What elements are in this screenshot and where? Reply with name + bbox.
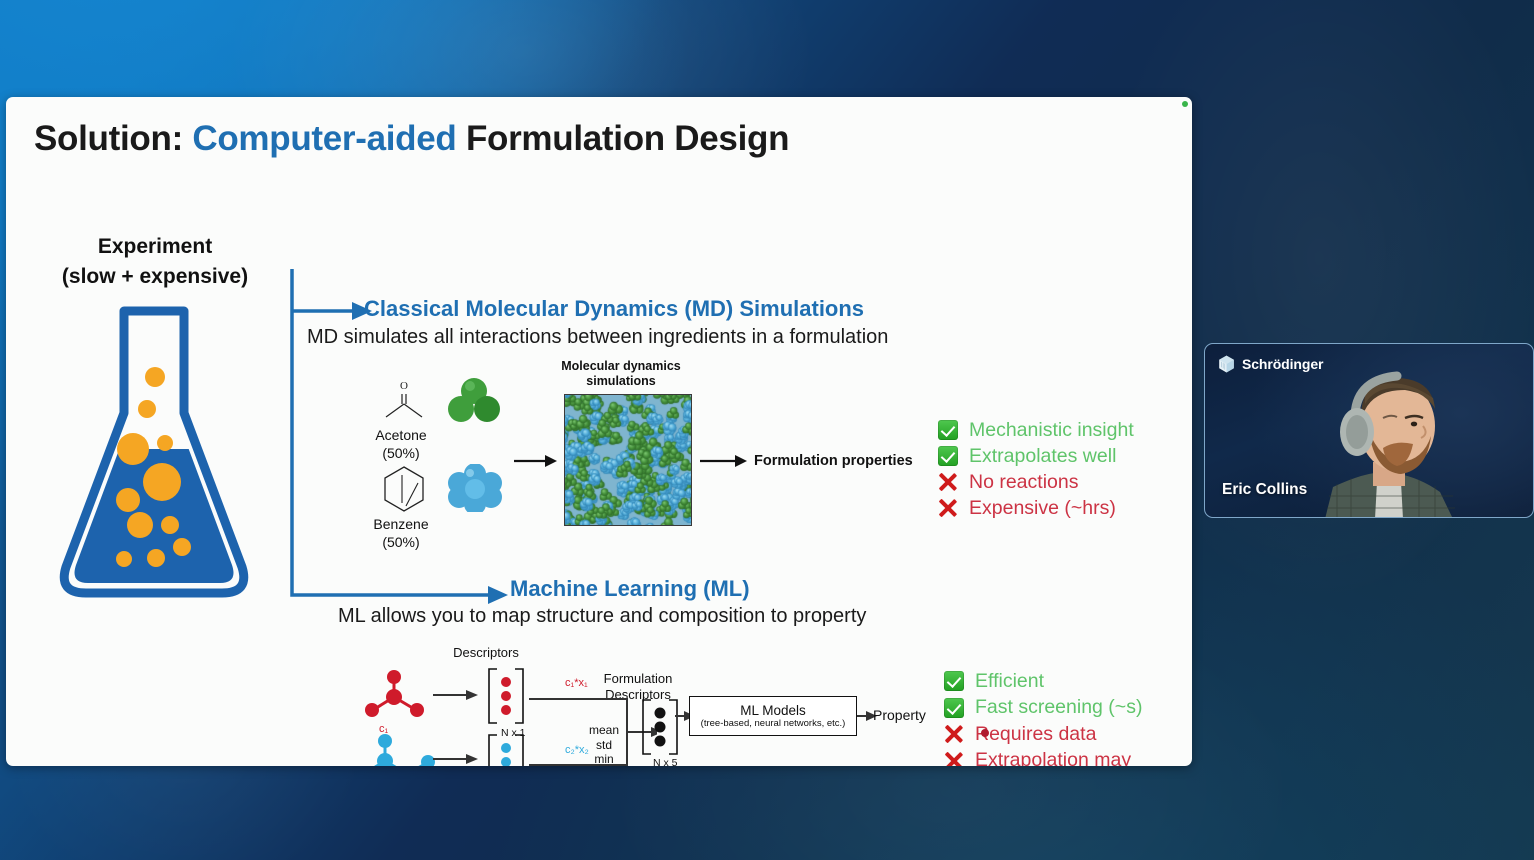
experiment-label: Experiment (slow + expensive) (30, 232, 280, 292)
cross-icon (944, 724, 964, 744)
participant-name-label: Eric Collins (1222, 481, 1307, 499)
cross-icon (938, 472, 958, 492)
formulation-descriptor-vector (639, 698, 681, 756)
md-sim-caption: Molecular dynamics simulations (541, 359, 701, 390)
page-title: Solution: Computer-aided Formulation Des… (34, 119, 789, 159)
check-icon (938, 446, 958, 466)
ml-item-label: Fast screening (~s) (975, 696, 1142, 719)
experiment-subheading: (slow + expensive) (30, 262, 280, 292)
descriptors-label: Descriptors (436, 645, 536, 661)
ml-item-label: Extrapolation may (975, 749, 1131, 766)
molecule-c2-icon (355, 733, 445, 766)
md-item-label: Mechanistic insight (969, 419, 1134, 442)
check-icon (944, 671, 964, 691)
md-list-item: Expensive (~hrs) (938, 495, 1134, 521)
benzene-spacefill-icon (448, 464, 502, 512)
md-section-heading: Classical Molecular Dynamics (MD) Simula… (364, 296, 864, 322)
md-sim-caption-line1: Molecular dynamics (541, 359, 701, 374)
acetone-structure-icon: O (378, 377, 430, 427)
descriptor-vector-c2 (485, 733, 527, 766)
green-status-dot (1182, 101, 1188, 107)
red-pointer-dot (981, 729, 989, 737)
molecule-c1-icon (359, 669, 429, 721)
acetone-name-text: Acetone (356, 427, 446, 445)
md-section-subheading: MD simulates all interactions between in… (307, 326, 888, 349)
benzene-label: Benzene (50%) (356, 516, 446, 551)
md-list-item: Mechanistic insight (938, 417, 1134, 443)
benzene-pct: (50%) (356, 534, 446, 552)
check-icon (938, 420, 958, 440)
video-brand-logo: Schrödinger (1218, 355, 1323, 373)
aggregation-stats-list: mean std min max median (573, 723, 635, 766)
ml-figure: Descriptors Formulation Descriptors (351, 645, 941, 766)
ml-item-label: Efficient (975, 670, 1044, 693)
md-simulation-box (564, 394, 692, 526)
erlenmeyer-flask-icon (54, 297, 254, 607)
vector-dim-3-label: N x 5 (653, 757, 678, 766)
acetone-spacefill-icon (448, 377, 502, 423)
ml-item-label: Requires data (975, 723, 1096, 746)
ml-models-title: ML Models (740, 703, 806, 718)
md-list-item: No reactions (938, 469, 1134, 495)
arrow-to-simulation-icon (514, 454, 558, 468)
ml-pros-cons-list: Efficient Fast screening (~s) Requires d… (944, 668, 1142, 766)
svg-text:O: O (400, 380, 408, 392)
arrow-to-properties-icon (700, 454, 748, 468)
formulation-properties-label: Formulation properties (754, 453, 913, 469)
benzene-name-text: Benzene (356, 516, 446, 534)
ml-list-item: Fast screening (~s) (944, 695, 1142, 722)
schrodinger-cube-icon (1218, 355, 1235, 373)
md-sim-caption-line2: simulations (541, 374, 701, 389)
experiment-heading: Experiment (30, 232, 280, 262)
arrow-c2-to-vector-icon (433, 753, 479, 765)
arrow-c1-to-vector-icon (433, 689, 479, 701)
md-item-label: No reactions (969, 471, 1078, 494)
ml-models-subtitle: (tree-based, neural networks, etc.) (701, 718, 846, 729)
property-output-label: Property (873, 707, 926, 723)
ml-list-item: Requires data (944, 721, 1142, 748)
cross-icon (938, 498, 958, 518)
screen: Solution: Computer-aided Formulation Des… (0, 0, 1534, 860)
ml-section-heading: Machine Learning (ML) (510, 576, 750, 602)
coefficient-1-label: c₁*x₁ (565, 677, 588, 689)
md-figure: Molecular dynamics simulations O Acetone… (356, 359, 936, 544)
benzene-structure-icon (378, 464, 430, 514)
ml-list-item: Extrapolation may (944, 748, 1142, 767)
md-item-label: Expensive (~hrs) (969, 497, 1116, 520)
acetone-pct: (50%) (356, 445, 446, 463)
descriptor-vector-c1 (485, 667, 527, 725)
video-brand-text: Schrödinger (1242, 356, 1323, 372)
video-participant-tile[interactable]: Schrödinger Eric Collins (1204, 343, 1534, 518)
md-pros-cons-list: Mechanistic insight Extrapolates well No… (938, 417, 1134, 521)
md-item-label: Extrapolates well (969, 445, 1116, 468)
cross-icon (944, 751, 964, 766)
formulation-descriptors-line1: Formulation (593, 671, 683, 687)
md-list-item: Extrapolates well (938, 443, 1134, 469)
title-part-2: Formulation Design (457, 119, 790, 158)
presentation-slide[interactable]: Solution: Computer-aided Formulation Des… (6, 97, 1192, 766)
stat-mean: mean (573, 723, 635, 738)
ml-list-item: Efficient (944, 668, 1142, 695)
ml-models-box: ML Models (tree-based, neural networks, … (689, 696, 857, 736)
stat-std: std (573, 738, 635, 753)
ml-section-subheading: ML allows you to map structure and compo… (338, 605, 866, 628)
check-icon (944, 698, 964, 718)
acetone-label: Acetone (50%) (356, 427, 446, 462)
stat-min: min (573, 752, 635, 766)
title-part-1: Solution: (34, 119, 192, 158)
title-highlight: Computer-aided (192, 119, 456, 158)
